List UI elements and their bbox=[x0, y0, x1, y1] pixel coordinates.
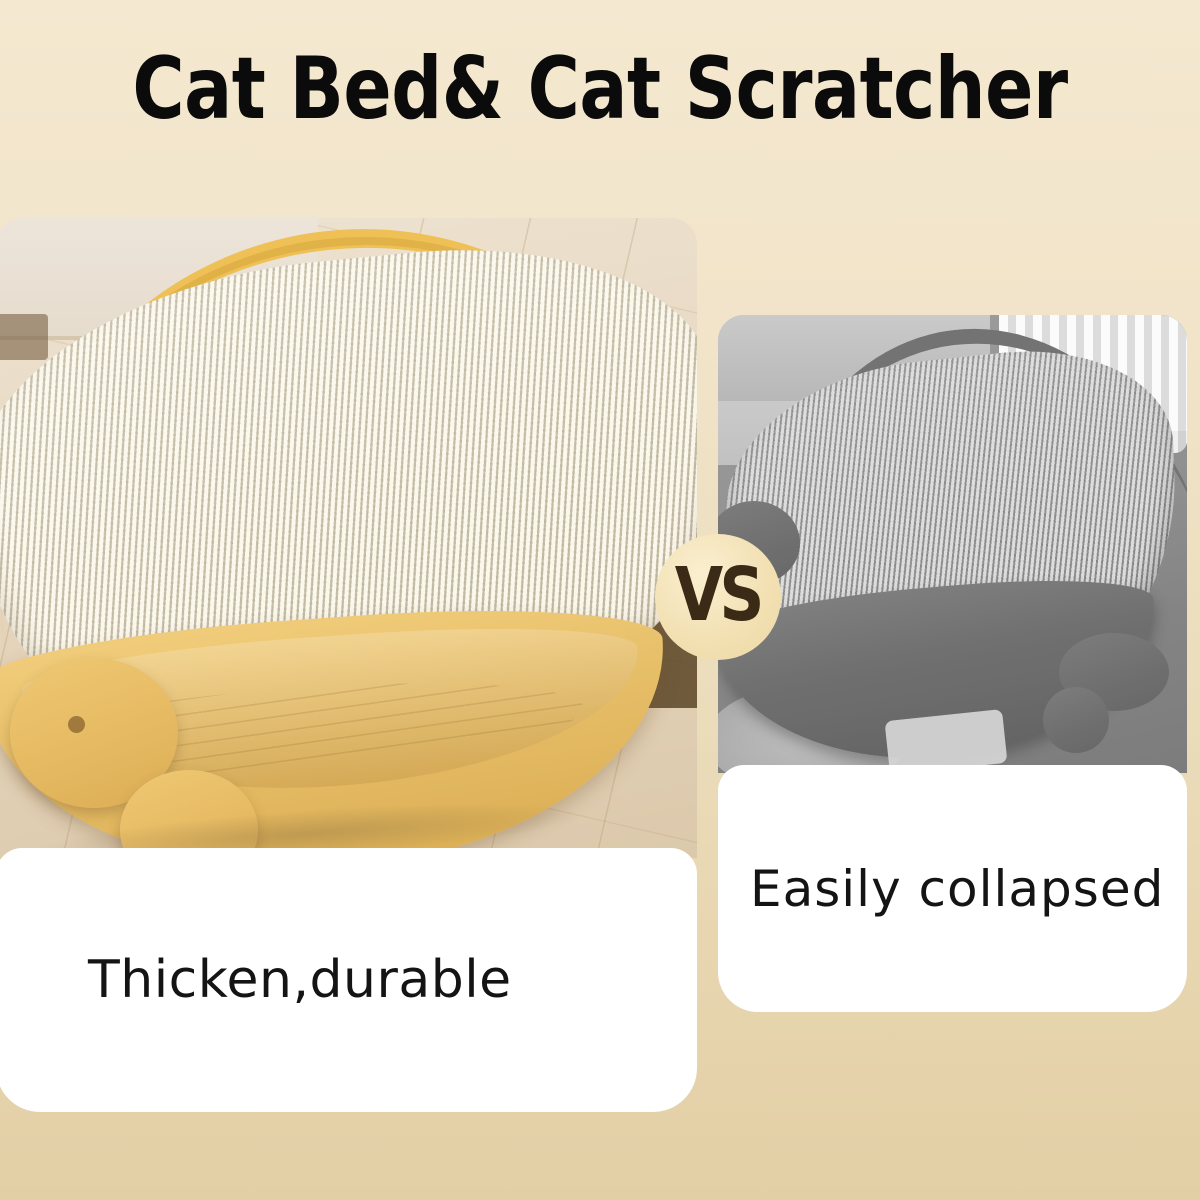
photo-scene-grayscale bbox=[718, 315, 1187, 773]
vs-label: VS bbox=[675, 558, 761, 632]
caption-text-bad: Easily collapsed bbox=[750, 860, 1164, 918]
comparison-card-left: Thicken,durable bbox=[0, 218, 697, 1112]
product-photo-bad bbox=[718, 315, 1187, 773]
caption-panel-bad: Easily collapsed bbox=[718, 765, 1187, 1012]
product-photo-good bbox=[0, 218, 697, 858]
grey-foot-bottom bbox=[1043, 687, 1109, 753]
screw-icon bbox=[68, 716, 85, 733]
wall-shadow-notch bbox=[0, 314, 48, 360]
vs-badge: VS bbox=[655, 534, 781, 660]
photo-scene-color bbox=[0, 218, 697, 858]
grey-floor-mat bbox=[884, 709, 1007, 773]
caption-panel-good: Thicken,durable bbox=[0, 848, 697, 1112]
comparison-card-right: Easily collapsed bbox=[718, 315, 1187, 1012]
caption-text-good: Thicken,durable bbox=[88, 950, 512, 1010]
page-title: Cat Bed& Cat Scratcher bbox=[48, 46, 1152, 132]
